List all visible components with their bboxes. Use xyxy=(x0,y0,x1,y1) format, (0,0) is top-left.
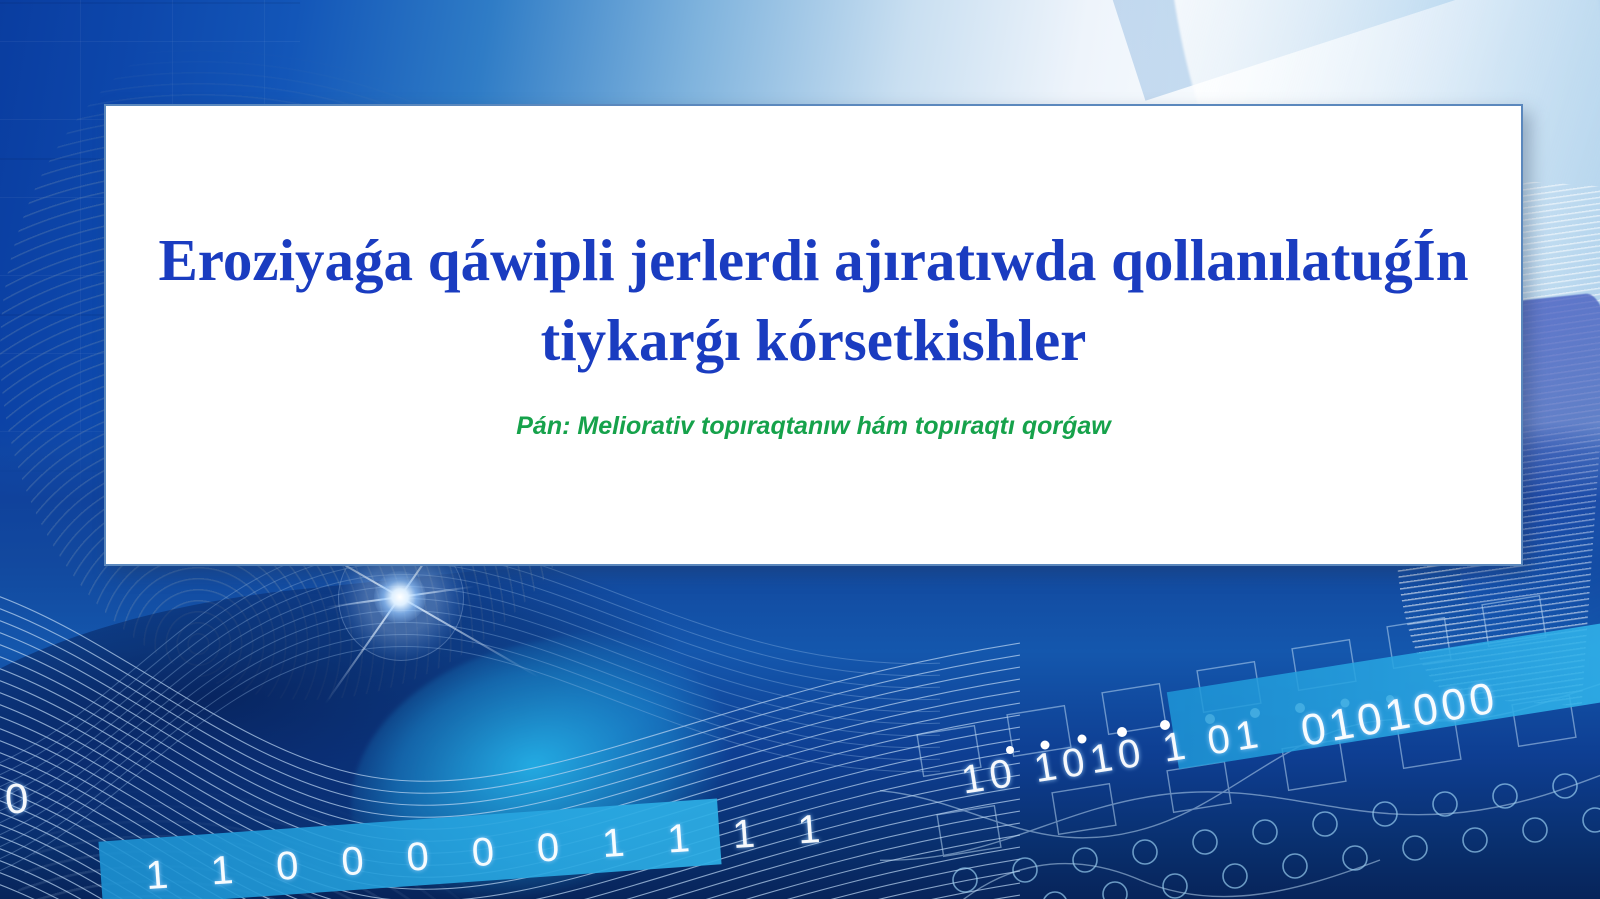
binary-text-bottom-right-2: 0101000 xyxy=(1297,673,1502,757)
digits-top-right: 3217328 xyxy=(1488,0,1600,1)
binary-text-bottom-right: 10 1010 1 01 xyxy=(958,711,1267,803)
teal-digit-panel xyxy=(1167,619,1600,770)
circuit-board-icon xyxy=(880,560,1600,899)
dot-trail-icon xyxy=(1000,690,1420,760)
binary-text-bottom-left-edge: 0 xyxy=(3,774,30,824)
page-title: Eroziyaǵa qáwipli jerlerdi ajıratıwda qo… xyxy=(106,220,1521,380)
content-card: Eroziyaǵa qáwipli jerlerdi ajıratıwda qo… xyxy=(104,104,1523,566)
digit-strip-background xyxy=(1034,0,1600,101)
page-subtitle: Pán: Meliorativ topıraqtanıw hám topıraq… xyxy=(106,410,1521,443)
arc-fan-secondary-icon xyxy=(0,700,520,899)
presentation-slide: 3217328 xyxy=(0,0,1600,899)
